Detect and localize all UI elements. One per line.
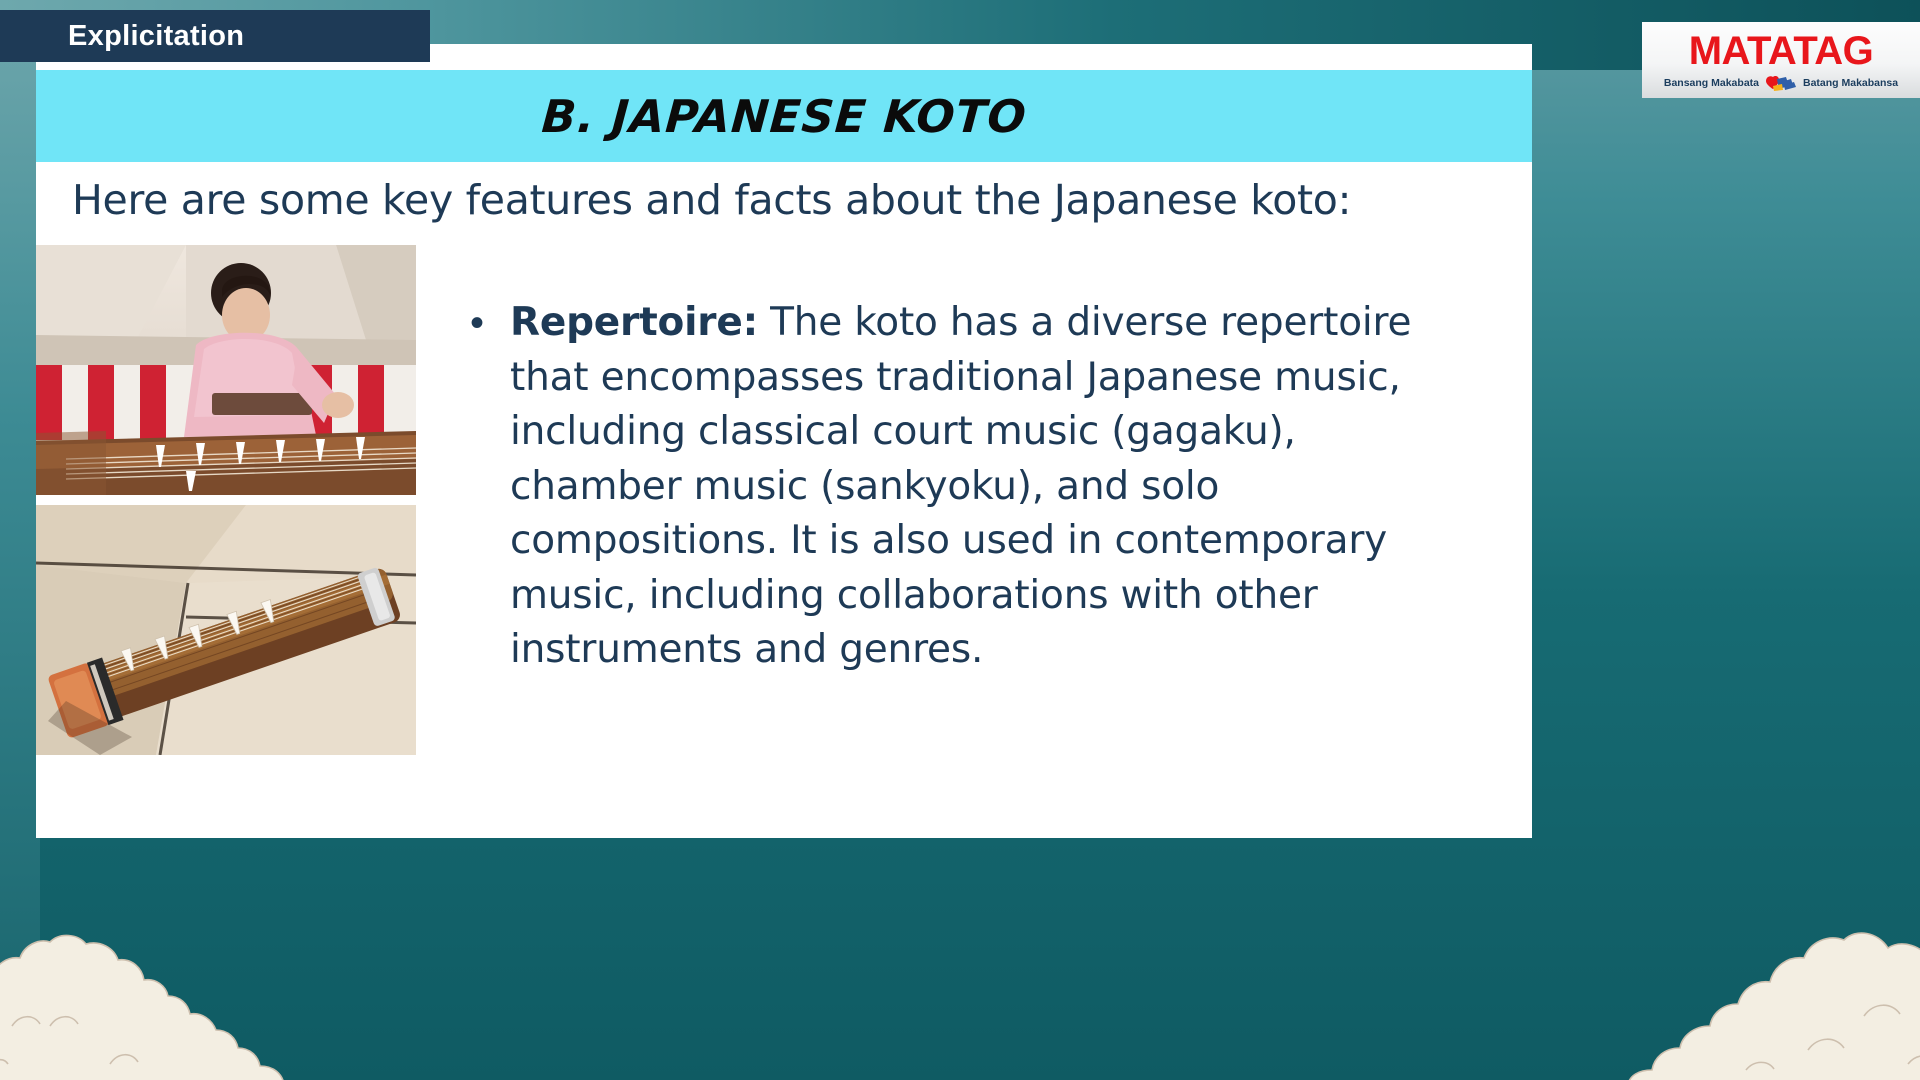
bullet-item: • Repertoire: The koto has a diverse rep… [462, 296, 1472, 678]
subtitle-text: Here are some key features and facts abo… [72, 176, 1512, 224]
image-column [36, 245, 416, 755]
matatag-tagline-left: Bansang Makabata [1664, 77, 1759, 89]
cloud-decoration-left [0, 934, 420, 1080]
title-band: B. JAPANESE KOTO [36, 70, 1532, 162]
matatag-heart-hands-icon [1764, 74, 1798, 92]
matatag-wordmark: MATATAG [1689, 31, 1874, 71]
matatag-tagline-right: Batang Makabansa [1803, 77, 1898, 89]
matatag-tagline-row: Bansang Makabata Batang Makabansa [1664, 74, 1898, 92]
koto-instrument-photo [36, 505, 416, 755]
bullet-lead-label: Repertoire: [510, 300, 758, 345]
bullet-body-text: The koto has a diverse repertoire that e… [510, 300, 1411, 672]
slide-canvas: Explicitation MATATAG Bansang Makabata B… [0, 0, 1920, 1080]
koto-player-photo [36, 245, 416, 495]
section-tab-label: Explicitation [0, 20, 244, 53]
bullet-marker-icon: • [462, 296, 510, 350]
section-tab-explicitation: Explicitation [0, 10, 430, 62]
teal-left-strip [0, 60, 40, 1080]
matatag-logo: MATATAG Bansang Makabata Batang Makabans… [1642, 22, 1920, 98]
page-title: B. JAPANESE KOTO [540, 90, 1028, 143]
cloud-decoration-right [1460, 924, 1920, 1080]
bullet-paragraph: Repertoire: The koto has a diverse reper… [510, 296, 1472, 678]
body-block: • Repertoire: The koto has a diverse rep… [462, 296, 1472, 678]
